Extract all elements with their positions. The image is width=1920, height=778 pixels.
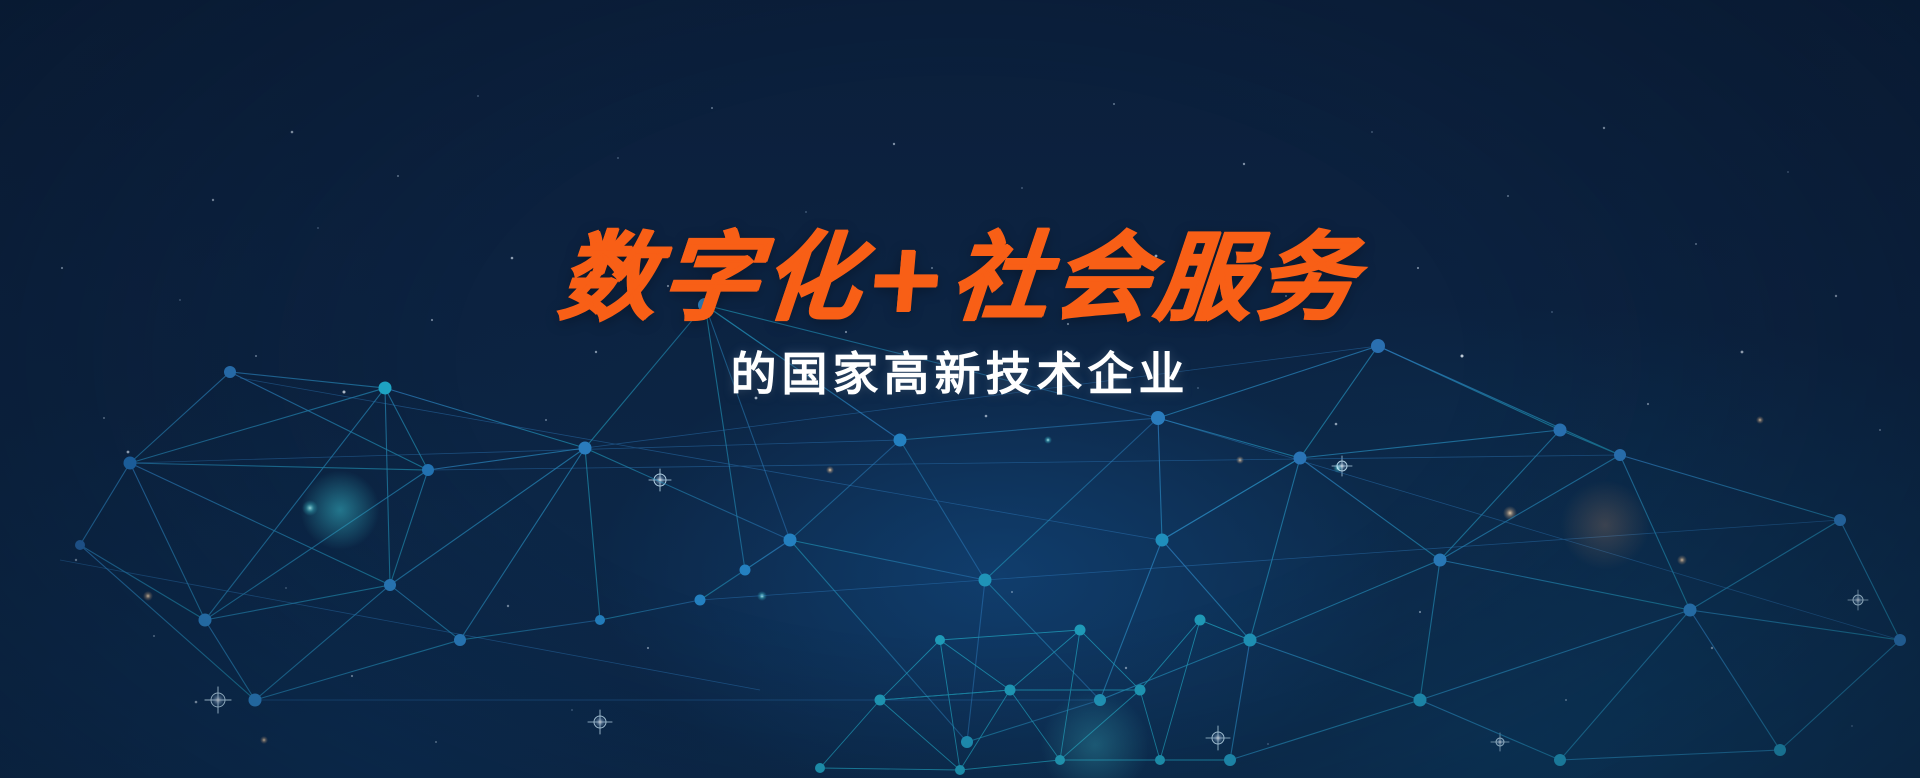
hero-subline: 的国家高新技术企业 (0, 347, 1920, 402)
hero-banner: 数字化+社会服务 的国家高新技术企业 (0, 0, 1920, 778)
mesh-edges-right (1100, 346, 1900, 760)
hero-text-block: 数字化+社会服务 的国家高新技术企业 (0, 228, 1920, 402)
hero-headline: 数字化+社会服务 (0, 228, 1920, 329)
mesh-edges-left (80, 372, 585, 700)
mesh-edges-dense (820, 620, 1250, 770)
